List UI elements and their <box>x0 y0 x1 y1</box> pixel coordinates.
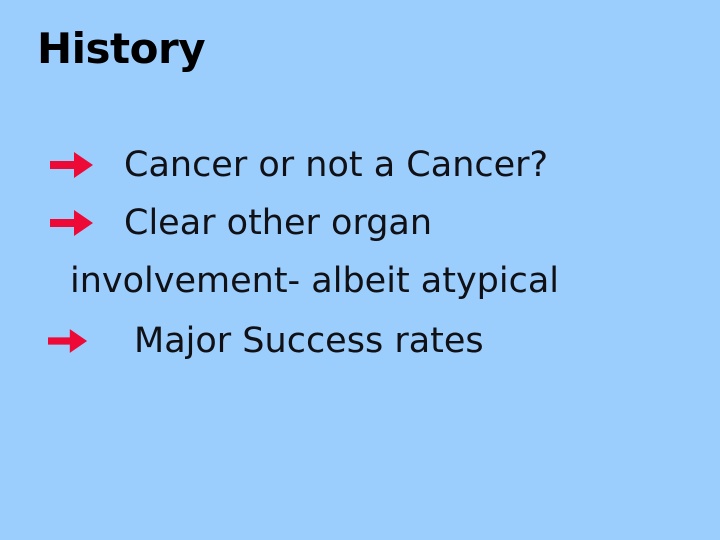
presentation-slide: History Cancer or not a Cancer? Clear ot… <box>0 0 720 540</box>
page-title: History <box>37 23 205 75</box>
bullet-list-item: Cancer or not a Cancer? <box>0 136 720 194</box>
bullet-item-label: Clear other organ <box>124 194 432 252</box>
bullet-list-item-continuation: involvement- albeit atypical <box>0 252 720 310</box>
right-arrow-icon <box>48 312 88 370</box>
bullet-list-item: Clear other organ <box>0 194 720 252</box>
bullet-item-label-continuation: involvement- albeit atypical <box>70 252 559 310</box>
right-arrow-icon <box>50 136 94 194</box>
bullet-list-item: Major Success rates <box>0 312 720 370</box>
bullet-item-label: Major Success rates <box>134 312 484 370</box>
right-arrow-icon <box>50 194 94 252</box>
bullet-item-label: Cancer or not a Cancer? <box>124 136 548 194</box>
slide-body-content: Cancer or not a Cancer? Clear other orga… <box>0 136 720 370</box>
